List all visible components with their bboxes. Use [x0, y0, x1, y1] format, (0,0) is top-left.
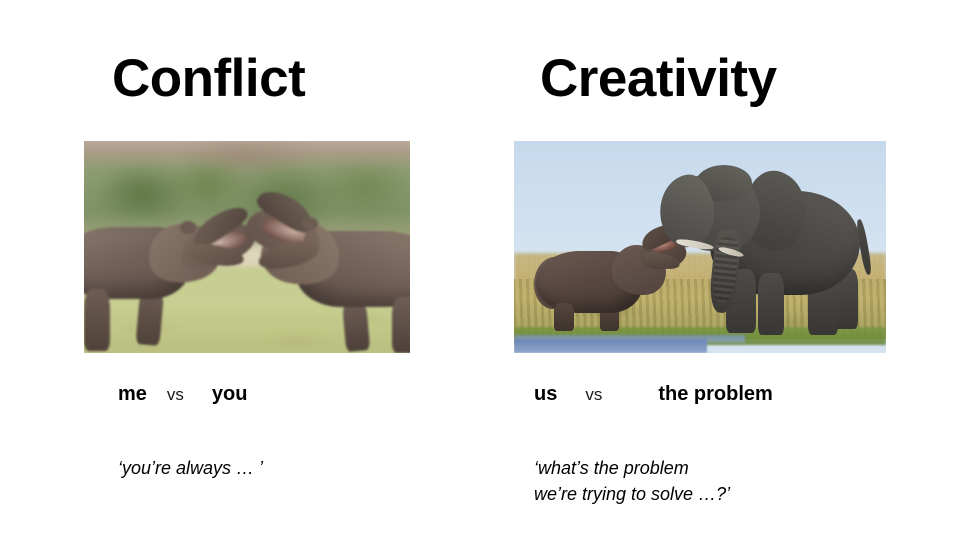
elephant-scene-background [514, 141, 886, 353]
hippo-right-front-leg [392, 297, 410, 353]
hippo-right-figure [234, 213, 410, 353]
quote-conflict: ‘you’re always … ’ [118, 455, 263, 481]
versus-separator-creativity: vs [585, 385, 602, 405]
river-water-layer [514, 339, 707, 353]
elephant-front-right-leg [758, 273, 784, 335]
title-creativity: Creativity [540, 52, 777, 105]
title-conflict: Conflict [112, 52, 305, 105]
hippo-right-ear [302, 217, 318, 230]
versus-party-a-creativity: us [534, 383, 557, 406]
versus-party-a-conflict: me [118, 383, 147, 406]
hippo-front-leg [554, 303, 574, 331]
hippo-left-ear [180, 221, 196, 234]
versus-row-conflict: me vs you [118, 383, 247, 406]
slide-canvas: Conflict [0, 0, 960, 540]
hippo-and-elephant-photo [514, 141, 886, 353]
hippo-left-figure [84, 219, 250, 353]
column-conflict: Conflict [0, 0, 470, 540]
two-hippos-confronting-photo [84, 141, 410, 353]
versus-separator-conflict: vs [167, 385, 184, 405]
elephant-figure [668, 157, 864, 337]
versus-party-b-conflict: you [212, 383, 248, 406]
hippo-left-front-leg [84, 289, 110, 351]
column-creativity: Creativity [470, 0, 960, 540]
hippo-scene-background [84, 141, 410, 353]
versus-row-creativity: us vs the problem [534, 383, 773, 406]
versus-party-b-creativity: the problem [658, 383, 772, 406]
hippo-figure [536, 227, 684, 327]
quote-creativity: ‘what’s the problem we’re trying to solv… [534, 455, 730, 507]
